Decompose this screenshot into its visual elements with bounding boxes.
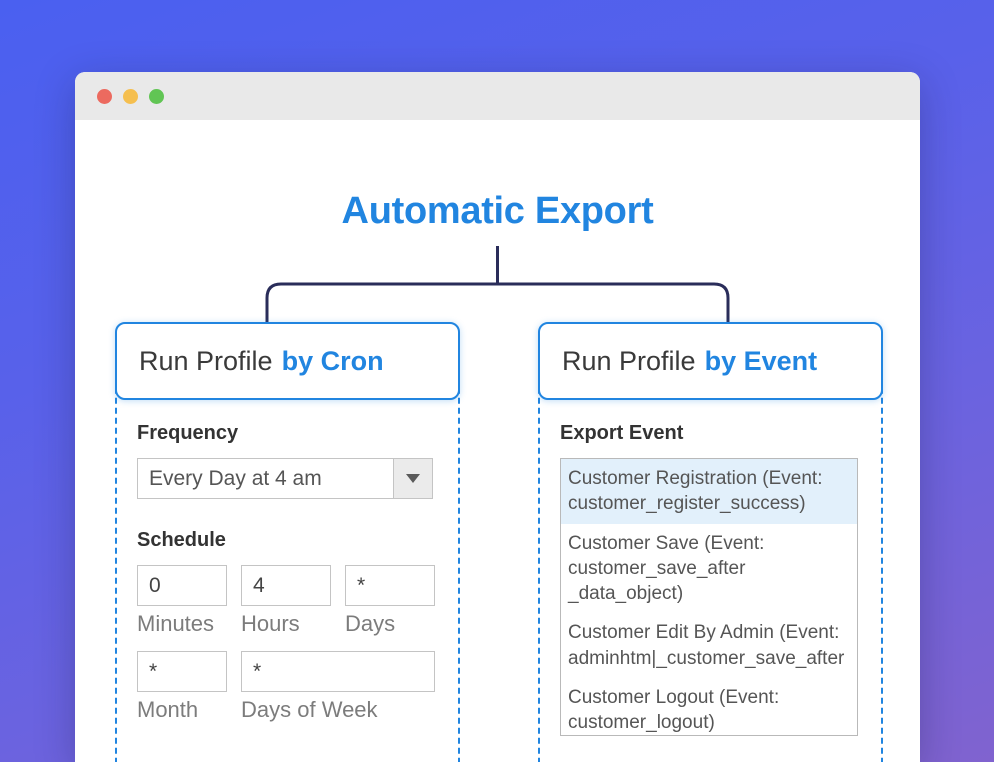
cron-body: Frequency Every Day at 4 am Schedule 0 M… — [115, 344, 460, 762]
list-item[interactable]: Customer Logout (Event: customer_logout) — [561, 678, 857, 736]
event-body: Export Event Customer Registration (Even… — [538, 344, 883, 762]
export-event-list[interactable]: Customer Registration (Event: customer_r… — [560, 458, 858, 736]
hours-caption: Hours — [241, 611, 331, 637]
page-title: Automatic Export — [75, 190, 920, 233]
schedule-section: Schedule 0 Minutes 4 Hours * Days — [137, 529, 438, 723]
branch-event: Export Event Customer Registration (Even… — [538, 322, 883, 762]
minutes-caption: Minutes — [137, 611, 227, 637]
frequency-select-arrow[interactable] — [393, 459, 432, 498]
cron-header-accent: by Cron — [282, 346, 384, 377]
list-item[interactable]: Customer Registration (Event: customer_r… — [561, 459, 857, 524]
minimize-window-button[interactable] — [123, 89, 138, 104]
cron-branch-header[interactable]: Run Profile by Cron — [115, 322, 460, 400]
frequency-label: Frequency — [137, 422, 438, 445]
days-field: * Days — [345, 565, 435, 637]
days-of-week-input[interactable]: * — [241, 651, 435, 692]
days-of-week-field: * Days of Week — [241, 651, 435, 723]
event-header-accent: by Event — [705, 346, 818, 377]
hours-field: 4 Hours — [241, 565, 331, 637]
event-branch-header[interactable]: Run Profile by Event — [538, 322, 883, 400]
maximize-window-button[interactable] — [149, 89, 164, 104]
cron-header-prefix: Run Profile — [139, 346, 273, 377]
minutes-input[interactable]: 0 — [137, 565, 227, 606]
minutes-field: 0 Minutes — [137, 565, 227, 637]
list-item[interactable]: Customer Edit By Admin (Event: adminhtm|… — [561, 613, 857, 678]
schedule-row-2: * Month * Days of Week — [137, 651, 438, 723]
export-event-label: Export Event — [560, 422, 861, 445]
close-window-button[interactable] — [97, 89, 112, 104]
days-caption: Days — [345, 611, 435, 637]
days-input[interactable]: * — [345, 565, 435, 606]
days-of-week-caption: Days of Week — [241, 697, 435, 723]
schedule-label: Schedule — [137, 529, 438, 552]
browser-window: Automatic Export Frequency Every Day at … — [75, 72, 920, 762]
window-titlebar — [75, 72, 920, 120]
schedule-row-1: 0 Minutes 4 Hours * Days — [137, 565, 438, 637]
frequency-select[interactable]: Every Day at 4 am — [137, 458, 433, 499]
month-field: * Month — [137, 651, 227, 723]
hours-input[interactable]: 4 — [241, 565, 331, 606]
event-header-prefix: Run Profile — [562, 346, 696, 377]
frequency-select-value: Every Day at 4 am — [138, 459, 393, 498]
month-input[interactable]: * — [137, 651, 227, 692]
list-item[interactable]: Customer Save (Event: customer_save_afte… — [561, 524, 857, 614]
month-caption: Month — [137, 697, 227, 723]
diagram-canvas: Automatic Export Frequency Every Day at … — [75, 120, 920, 762]
connector-bracket — [75, 246, 920, 332]
chevron-down-icon — [406, 474, 420, 483]
branch-cron: Frequency Every Day at 4 am Schedule 0 M… — [115, 322, 460, 762]
